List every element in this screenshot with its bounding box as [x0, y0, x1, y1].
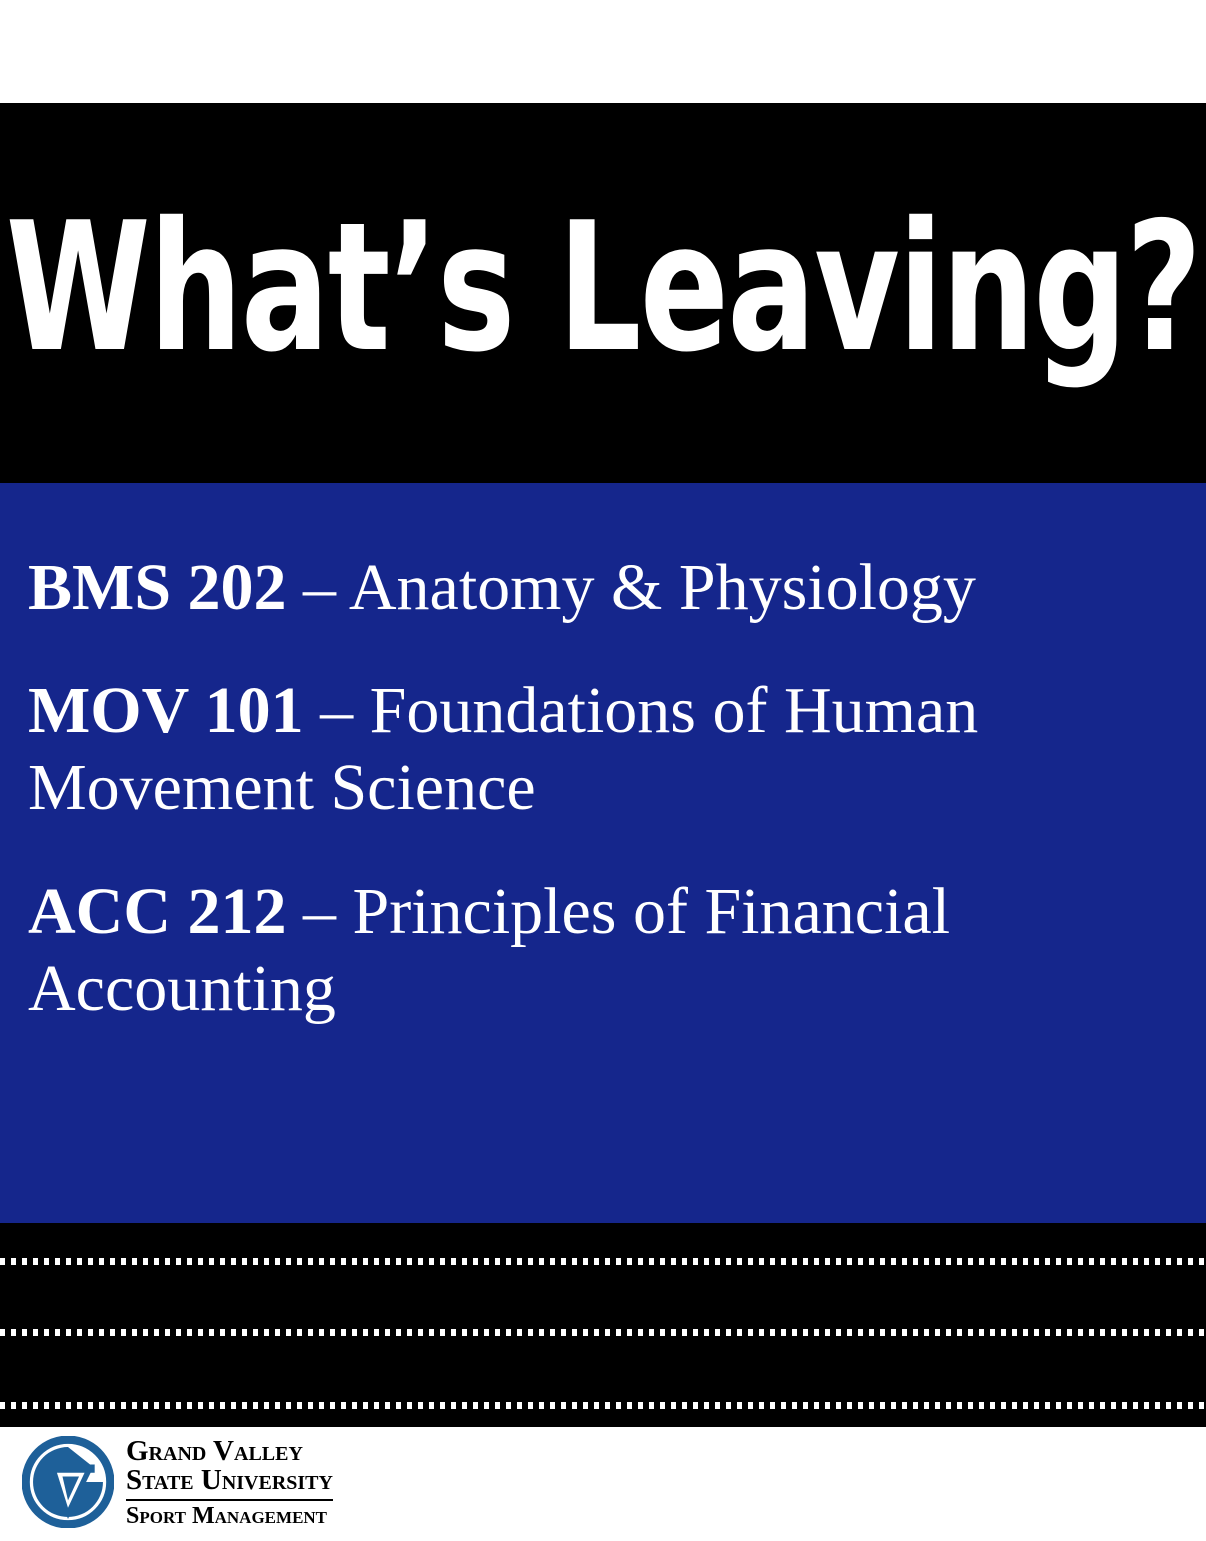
course-code: BMS 202: [28, 551, 287, 624]
course-separator: –: [287, 875, 353, 948]
list-item: ACC 212 – Principles of Financial Accoun…: [28, 873, 1172, 1027]
course-panel: BMS 202 – Anatomy & Physiology MOV 101 –…: [0, 483, 1206, 1223]
wordmark-line-state-university: State University: [126, 1466, 333, 1497]
gvsu-wordmark: Grand Valley State University Sport Mana…: [126, 1435, 333, 1528]
course-name: Anatomy & Physiology: [349, 551, 976, 624]
footer-bar: Grand Valley State University Sport Mana…: [0, 1427, 1206, 1541]
title-band: What’s Leaving?: [0, 103, 1206, 483]
list-item: MOV 101 – Foundations of Human Movement …: [28, 672, 1172, 826]
dotted-divider-line: [0, 1329, 1206, 1336]
course-code: MOV 101: [28, 674, 304, 747]
course-code: ACC 212: [28, 875, 287, 948]
page-title: What’s Leaving?: [109, 103, 1098, 483]
dotted-divider-line: [0, 1402, 1206, 1409]
list-item: BMS 202 – Anatomy & Physiology: [28, 549, 1172, 626]
dotted-divider-band: [0, 1223, 1206, 1427]
course-separator: –: [287, 551, 349, 624]
dotted-divider-line: [0, 1258, 1206, 1265]
wordmark-line-grand-valley: Grand Valley: [126, 1437, 333, 1466]
gvsu-g-triangle-icon: [22, 1436, 114, 1528]
top-white-margin: [0, 0, 1206, 103]
slide-canvas: What’s Leaving? BMS 202 – Anatomy & Phys…: [0, 0, 1206, 1541]
gvsu-logo: Grand Valley State University Sport Mana…: [22, 1435, 333, 1528]
course-list: BMS 202 – Anatomy & Physiology MOV 101 –…: [28, 549, 1172, 1073]
wordmark-rule: [126, 1499, 333, 1501]
course-separator: –: [304, 674, 370, 747]
wordmark-line-sport-management: Sport Management: [126, 1504, 333, 1528]
